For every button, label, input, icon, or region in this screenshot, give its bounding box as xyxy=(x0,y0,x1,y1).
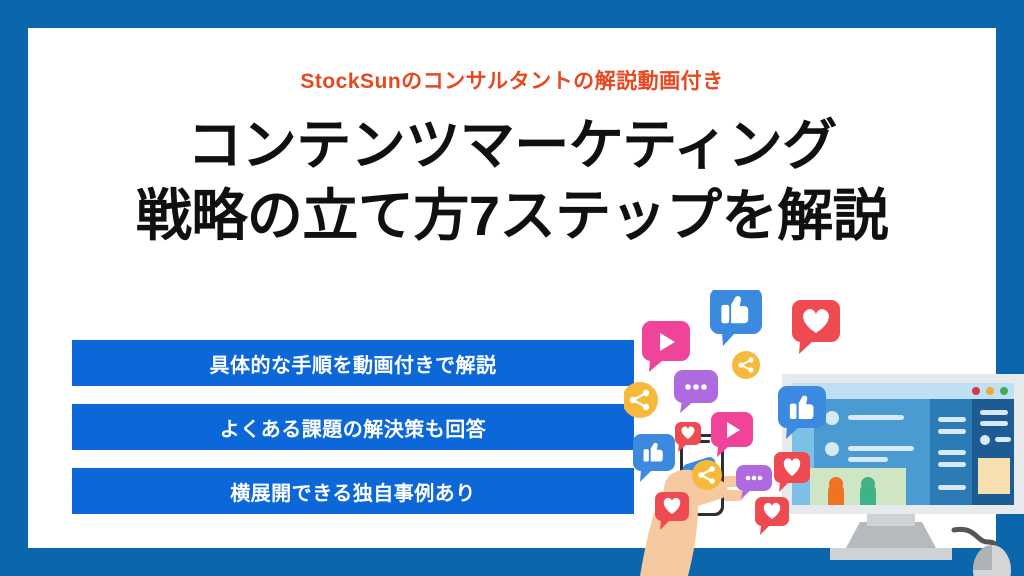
bullet-bar-list: 具体的な手順を動画付きで解説 よくある課題の解決策も回答 横展開できる独自事例あ… xyxy=(72,340,634,532)
thumbs-up-reaction-icon xyxy=(633,434,675,482)
share-reaction-icon xyxy=(732,351,760,379)
page-title-line-2: 戦略の立て方7ステップを解説 xyxy=(28,181,996,250)
computer-mouse-icon xyxy=(954,529,1011,576)
share-reaction-icon xyxy=(624,382,658,418)
social-media-engagement-illustration xyxy=(624,290,1024,576)
photo-panel xyxy=(810,468,906,505)
traffic-dot-red xyxy=(972,387,980,395)
bullet-bar-label: よくある課題の解決策も回答 xyxy=(220,413,487,442)
page-title-line-1: コンテンツマーケティング xyxy=(28,111,996,179)
bullet-bar-label: 横展開できる独自事例あり xyxy=(230,477,476,506)
play-reaction-icon xyxy=(642,321,690,372)
bullet-bar-2: よくある課題の解決策も回答 xyxy=(72,404,634,450)
note-card xyxy=(978,458,1010,494)
comment-reaction-icon xyxy=(674,370,718,413)
heart-reaction-icon xyxy=(755,497,789,535)
thumbs-up-reaction-icon xyxy=(710,290,762,346)
headline-block: StockSunのコンサルタントの解説動画付き コンテンツマーケティング 戦略の… xyxy=(28,28,996,251)
slide-canvas: StockSunのコンサルタントの解説動画付き コンテンツマーケティング 戦略の… xyxy=(28,28,996,548)
eyebrow-text: StockSunのコンサルタントの解説動画付き xyxy=(28,70,996,93)
bullet-bar-label: 具体的な手順を動画付きで解説 xyxy=(210,349,497,378)
slide-frame: StockSunのコンサルタントの解説動画付き コンテンツマーケティング 戦略の… xyxy=(0,0,1024,576)
traffic-dot-green xyxy=(1000,387,1008,395)
share-reaction-icon xyxy=(692,460,722,490)
heart-reaction-icon xyxy=(792,300,840,354)
bullet-bar-3: 横展開できる独自事例あり xyxy=(72,468,634,514)
bullet-bar-1: 具体的な手順を動画付きで解説 xyxy=(72,340,634,386)
traffic-dot-yellow xyxy=(986,387,994,395)
